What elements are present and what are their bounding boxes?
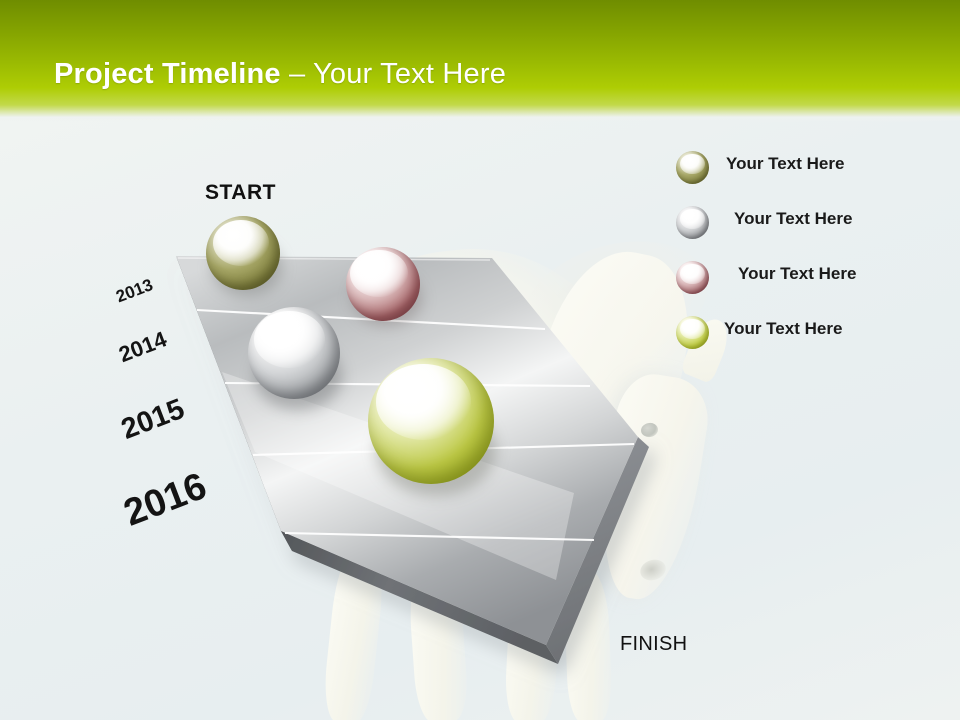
legend-bullet-gloss xyxy=(680,319,704,339)
legend-label: Your Text Here xyxy=(724,319,842,339)
marker-green[interactable] xyxy=(368,358,494,484)
marker-olive[interactable] xyxy=(206,216,280,290)
legend-item[interactable]: Your Text Here xyxy=(676,258,956,313)
start-label: START xyxy=(205,181,276,205)
marker-green-gloss xyxy=(376,364,472,440)
marker-olive-gloss xyxy=(213,220,269,266)
legend-bullet-green-icon xyxy=(676,316,709,349)
legend-bullet-gray-icon xyxy=(676,206,709,239)
legend-bullet-olive-icon xyxy=(676,151,709,184)
legend-bullet-gloss xyxy=(680,154,704,174)
marker-gray[interactable] xyxy=(248,307,340,399)
legend-bullet-gloss xyxy=(680,264,704,284)
legend-label: Your Text Here xyxy=(734,209,852,229)
legend-item[interactable]: Your Text Here xyxy=(676,203,956,258)
legend-bullet-gloss xyxy=(680,209,704,229)
legend-label: Your Text Here xyxy=(726,154,844,174)
legend-item[interactable]: Your Text Here xyxy=(676,148,956,203)
marker-red-gloss xyxy=(350,250,408,297)
legend-bullet-red-icon xyxy=(676,261,709,294)
marker-red[interactable] xyxy=(346,247,420,321)
legend-item[interactable]: Your Text Here xyxy=(676,313,956,368)
legend-label: Your Text Here xyxy=(738,264,856,284)
marker-gray-gloss xyxy=(254,311,326,368)
slide-canvas: Project Timeline – Your Text Here xyxy=(0,0,960,720)
legend: Your Text Here Your Text Here Your Text … xyxy=(676,148,956,368)
finish-label: FINISH xyxy=(620,633,687,656)
